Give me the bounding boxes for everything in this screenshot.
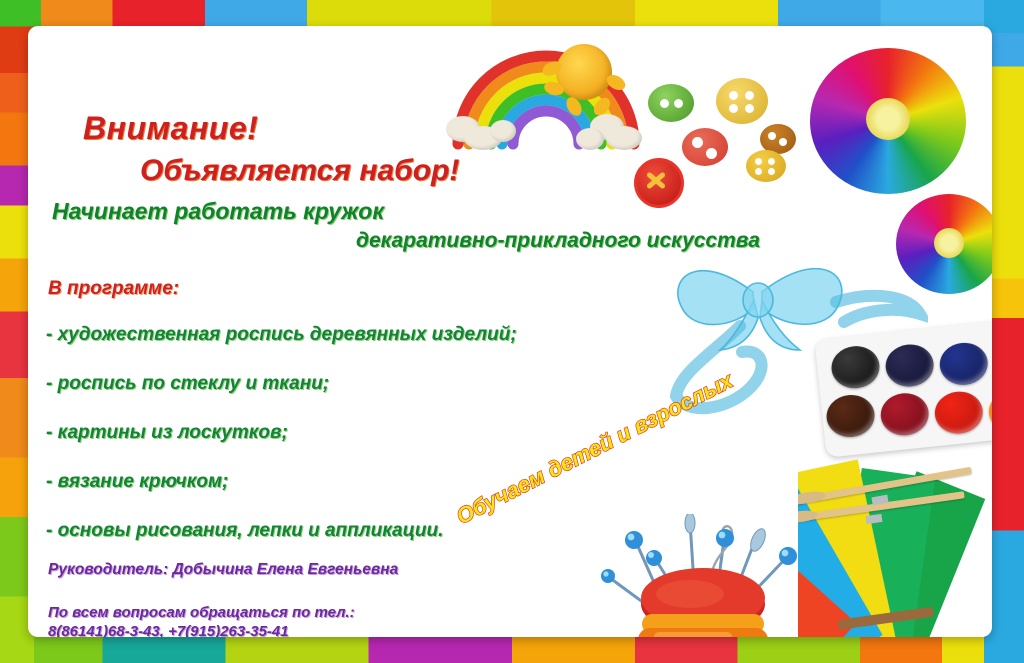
program-item: - художественная роспись деревянных изде… [46,324,666,346]
headline-attention: Внимание! [83,110,258,147]
program-item: - картины из лоскутков; [46,422,666,444]
sun-icon [556,44,612,100]
frame-band-bottom [0,633,1024,663]
leader-name: Руководитель: Добычина Елена Евгеньевна [48,561,398,579]
sewing-buttons-icon [626,70,806,210]
club-line-1: Начинает работать кружок [52,198,384,225]
watercolor-paint-set-icon [814,316,992,457]
club-line-2: декаративно-прикладного искусства [356,229,760,253]
headline-enrollment: Объявляется набор! [140,154,459,188]
cloud-icon [490,120,516,142]
program-item: - основы рисования, лепки и аппликации. [46,520,666,542]
rainbow-flower-icon [810,48,966,194]
program-item: - роспись по стеклу и ткани; [46,373,666,395]
cloud-icon [576,128,604,150]
poster-card: Внимание! Объявляется набор! Начинает ра… [28,26,992,637]
colored-paper-icon [798,456,992,637]
poster-root: Внимание! Объявляется набор! Начинает ра… [0,0,1024,663]
program-label: В программе: [48,278,179,300]
rainbow-icon [446,44,646,150]
contact-phone: По всем вопросам обращаться по тел.: 8(8… [48,604,355,637]
